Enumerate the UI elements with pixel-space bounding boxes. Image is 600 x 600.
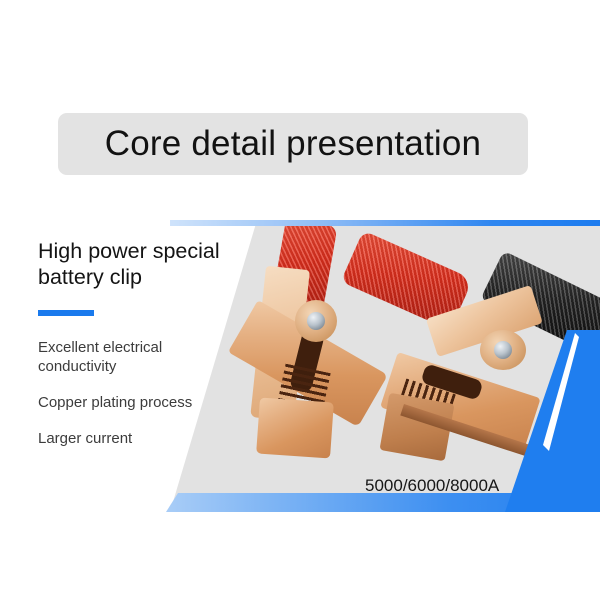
red-grip-lower [341,230,473,330]
accent-rule [38,310,94,316]
copper-jaw-tip [379,393,454,462]
feature-item: Excellent electrical conductivity [38,338,223,376]
pivot-screw [494,341,512,359]
jaw-teeth [277,364,330,413]
product-info-column: High power special battery clip Excellen… [38,238,223,465]
copper-jaw-lower [228,300,388,427]
current-rating-label: 5000/6000/8000A [365,476,499,496]
product-heading: High power special battery clip [38,238,223,290]
copper-jaw-upper [250,266,310,422]
pivot-screw [307,312,325,330]
copper-shadow-band [400,404,544,461]
copper-jaw-tip [256,397,334,458]
pivot-boss [295,300,337,342]
panel-top-accent-stripe [170,220,600,226]
jaw-teeth [400,378,456,413]
feature-item: Larger current [38,429,223,448]
red-grip-upper [270,217,337,317]
grip-texture [270,217,337,317]
copper-jaw-body [380,352,541,454]
product-detail-image: Core detail presentation [0,0,600,600]
grip-texture [341,230,473,330]
jaw-gap [289,328,325,393]
header-banner: Core detail presentation [58,113,528,175]
jaw-gap [420,363,483,401]
copper-arm-upper [426,285,543,357]
feature-item: Copper plating process [38,393,223,412]
page-title: Core detail presentation [105,124,481,164]
pivot-boss [480,330,526,370]
